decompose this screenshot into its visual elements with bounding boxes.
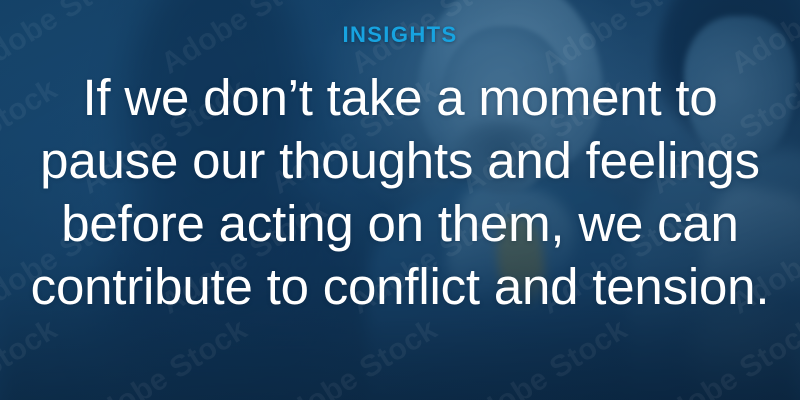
quote-line: If we don’t take a moment to xyxy=(20,66,780,129)
quote-text: If we don’t take a moment to pause our t… xyxy=(20,66,780,318)
card-content: INSIGHTS If we don’t take a moment to pa… xyxy=(0,0,800,400)
quote-card: Adobe Stock Adobe Stock Adobe Stock Adob… xyxy=(0,0,800,400)
eyebrow-label: INSIGHTS xyxy=(342,24,457,46)
quote-line: before acting on them, we can xyxy=(20,192,780,255)
quote-line: contribute to conflict and tension. xyxy=(20,255,780,318)
quote-line: pause our thoughts and feelings xyxy=(20,129,780,192)
